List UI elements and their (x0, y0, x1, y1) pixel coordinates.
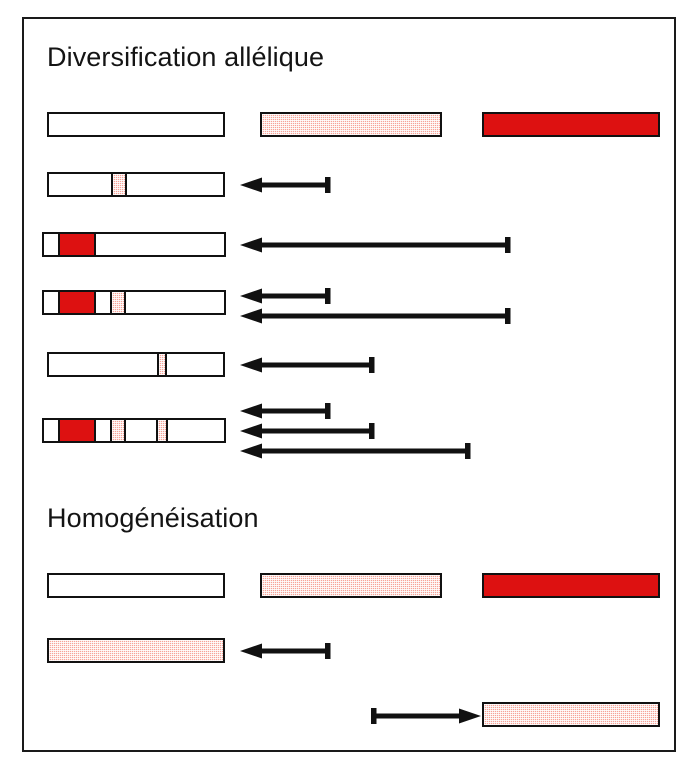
chromosome-bar-row-6 (47, 638, 225, 663)
legend-bar-red-bottom (482, 573, 660, 598)
segment-pink (262, 114, 440, 135)
segment-red (484, 575, 658, 596)
segment-white (49, 114, 223, 135)
segment-pink (110, 420, 124, 441)
arrow-left-row-1 (240, 177, 336, 195)
segment-white (124, 420, 156, 441)
legend-bar-white-top (47, 112, 225, 137)
legend-bar-pink-top (260, 112, 442, 137)
segment-white (49, 575, 223, 596)
legend-bar-pink-bottom (260, 573, 442, 598)
section-title-homogeneisation: Homogénéisation (47, 503, 259, 534)
segment-white (44, 292, 58, 313)
segment-white (166, 420, 224, 441)
segment-white (124, 292, 224, 313)
segment-pink (156, 420, 166, 441)
segment-white (44, 420, 58, 441)
legend-bar-white-bottom (47, 573, 225, 598)
legend-bar-red-top (482, 112, 660, 137)
arrow-left-row-6 (240, 643, 336, 661)
chromosome-bar-row-7 (482, 702, 660, 727)
chromosome-bar-row-3 (42, 290, 226, 315)
segment-pink (110, 292, 124, 313)
segment-white (94, 292, 110, 313)
segment-white (94, 234, 224, 255)
segment-red (484, 114, 658, 135)
arrow-left-row-4 (240, 357, 380, 375)
segment-red (58, 234, 94, 255)
chromosome-bar-row-5 (42, 418, 226, 443)
segment-pink (111, 174, 125, 195)
arrow-right-row-7 (371, 708, 489, 726)
figure-root: Diversification allélique (0, 0, 700, 772)
arrow-left-row-2 (240, 237, 516, 255)
chromosome-bar-row-2 (42, 232, 226, 257)
segment-pink (49, 640, 223, 661)
segment-red (58, 420, 94, 441)
chromosome-bar-row-4 (47, 352, 225, 377)
arrow-left-row-3-short (240, 288, 336, 306)
segment-pink (262, 575, 440, 596)
arrow-left-row-5-long (240, 443, 476, 461)
segment-red (58, 292, 94, 313)
segment-pink (484, 704, 658, 725)
segment-white (44, 234, 58, 255)
segment-white (49, 174, 111, 195)
arrow-left-row-5-medium (240, 423, 380, 441)
segment-white (125, 174, 223, 195)
section-title-diversification: Diversification allélique (47, 42, 324, 73)
arrow-left-row-3-long (240, 308, 516, 326)
segment-white (165, 354, 223, 375)
segment-white (49, 354, 157, 375)
chromosome-bar-row-1 (47, 172, 225, 197)
segment-pink (157, 354, 165, 375)
segment-white (94, 420, 110, 441)
arrow-left-row-5-short (240, 403, 336, 421)
